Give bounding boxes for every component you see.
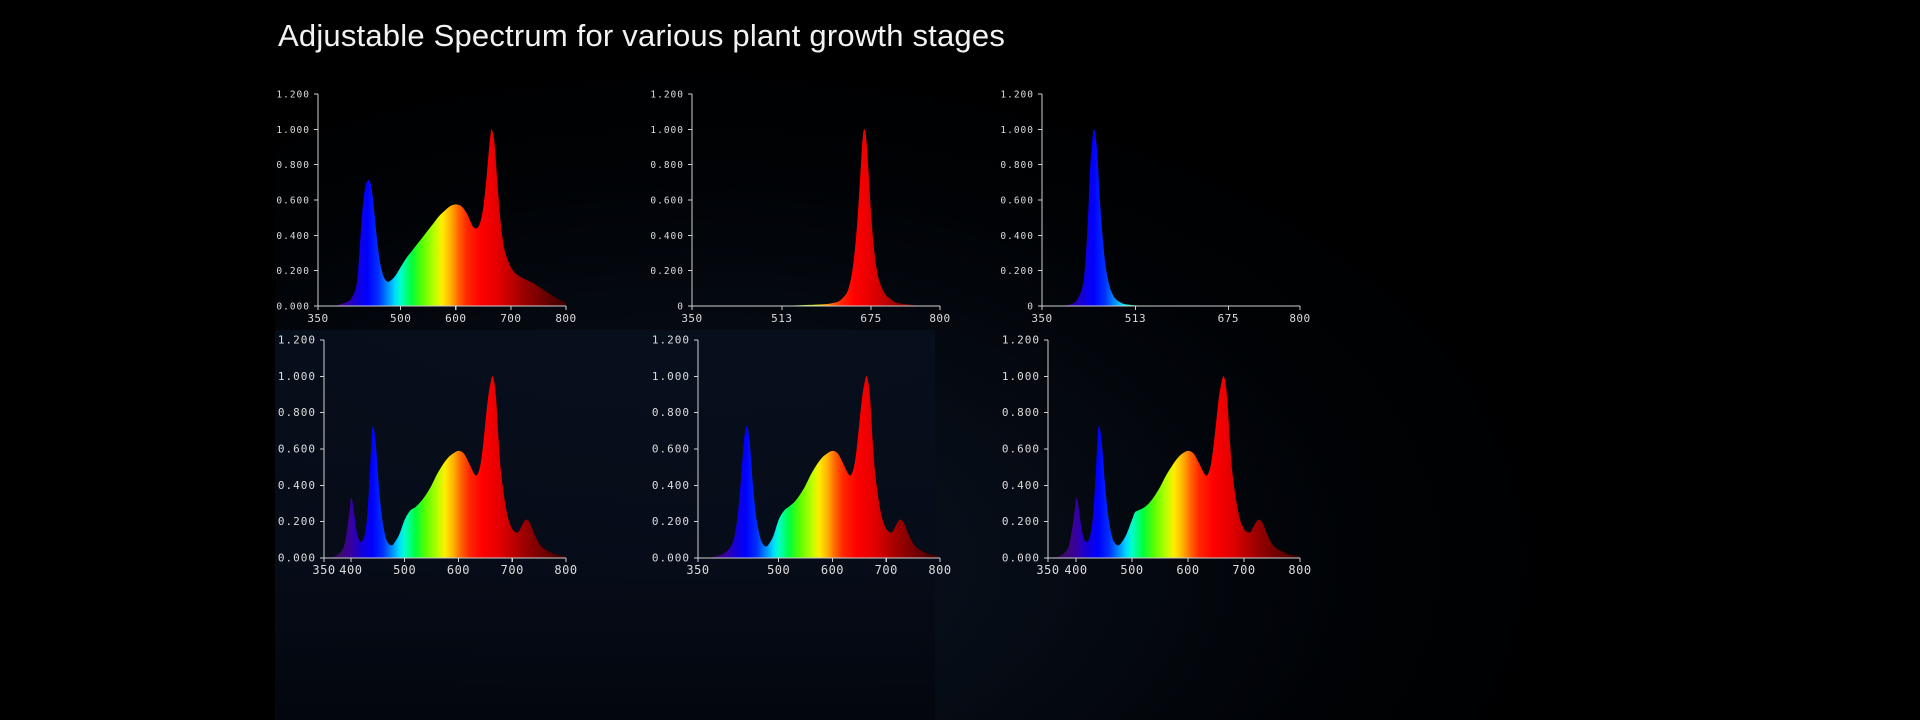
y-tick-label: 1.000 — [650, 125, 684, 136]
x-tick-label: 500 — [393, 563, 416, 577]
x-tick-label: 400 — [339, 563, 362, 577]
x-tick-label: 800 — [1288, 563, 1311, 577]
x-tick-label: 600 — [445, 312, 466, 325]
y-tick-label: 0.800 — [650, 160, 684, 171]
chart-vegetative: 0.0000.2000.4000.6000.8001.0001.20035040… — [276, 330, 576, 566]
slide-canvas: Adjustable Spectrum for various plant gr… — [0, 0, 1920, 720]
y-tick-label: 0.000 — [1002, 552, 1040, 565]
x-tick-label: 400 — [1064, 563, 1087, 577]
y-tick-label: 0.600 — [1002, 443, 1040, 456]
y-tick-label: 0.000 — [278, 552, 316, 565]
y-tick-label: 0.000 — [276, 302, 310, 313]
y-tick-label: 0.600 — [1000, 196, 1034, 207]
x-tick-label: 350 — [681, 312, 702, 325]
x-tick-label: 800 — [554, 563, 577, 577]
y-tick-label: 0.600 — [278, 443, 316, 456]
spectrum-area — [1048, 376, 1300, 558]
y-tick-label: 0.400 — [650, 231, 684, 242]
y-tick-label: 1.000 — [276, 125, 310, 136]
x-tick-label: 500 — [767, 563, 790, 577]
y-tick-label: 0.200 — [650, 266, 684, 277]
x-tick-label: 600 — [1176, 563, 1199, 577]
x-tick-label: 350 — [1031, 312, 1052, 325]
x-tick-label: 675 — [1218, 312, 1239, 325]
y-tick-label: 1.000 — [1000, 125, 1034, 136]
y-tick-label: 0.400 — [278, 479, 316, 492]
y-tick-label: 0.400 — [652, 479, 690, 492]
x-tick-label: 513 — [1125, 312, 1146, 325]
x-tick-label: 800 — [929, 312, 950, 325]
y-tick-label: 0.600 — [276, 196, 310, 207]
x-tick-label: 350 — [312, 563, 335, 577]
spectrum-area — [692, 129, 940, 306]
y-tick-label: 1.200 — [650, 90, 684, 101]
x-tick-label: 800 — [555, 312, 576, 325]
y-tick-label: 0.200 — [1002, 515, 1040, 528]
y-tick-label: 0.400 — [1000, 231, 1034, 242]
x-tick-label: 350 — [686, 563, 709, 577]
x-tick-label: 700 — [501, 563, 524, 577]
x-tick-label: 600 — [447, 563, 470, 577]
y-tick-label: 0.600 — [650, 196, 684, 207]
y-tick-label: 0 — [1027, 302, 1034, 313]
y-tick-label: 0.200 — [276, 266, 310, 277]
spectrum-area — [318, 129, 566, 306]
x-tick-label: 800 — [1289, 312, 1310, 325]
spectrum-area — [698, 376, 940, 558]
y-tick-label: 1.200 — [276, 90, 310, 101]
chart-deep-blue: 00.2000.4000.6000.8001.0001.200350513675… — [1000, 84, 1310, 314]
x-tick-label: 700 — [1232, 563, 1255, 577]
axes — [692, 94, 940, 306]
x-tick-label: 500 — [390, 312, 411, 325]
spectrum-area — [1042, 129, 1300, 306]
y-tick-label: 0.800 — [1002, 406, 1040, 419]
y-tick-label: 0.400 — [276, 231, 310, 242]
axes — [1042, 94, 1300, 306]
x-tick-label: 513 — [771, 312, 792, 325]
y-tick-label: 1.200 — [652, 334, 690, 347]
page-title: Adjustable Spectrum for various plant gr… — [278, 18, 1005, 54]
y-tick-label: 0.800 — [1000, 160, 1034, 171]
y-tick-label: 0 — [677, 302, 684, 313]
x-tick-label: 350 — [1036, 563, 1059, 577]
x-tick-label: 500 — [1120, 563, 1143, 577]
spectrum-area — [324, 376, 566, 558]
y-tick-label: 1.200 — [1000, 90, 1034, 101]
x-tick-label: 700 — [500, 312, 521, 325]
y-tick-label: 0.000 — [652, 552, 690, 565]
x-tick-label: 600 — [821, 563, 844, 577]
y-tick-label: 0.200 — [1000, 266, 1034, 277]
y-tick-label: 1.000 — [652, 370, 690, 383]
chart-flowering: 0.0000.2000.4000.6000.8001.0001.20035050… — [650, 330, 950, 566]
y-tick-label: 1.200 — [278, 334, 316, 347]
x-tick-label: 700 — [875, 563, 898, 577]
y-tick-label: 1.000 — [1002, 370, 1040, 383]
chart-full-cycle: 0.0000.2000.4000.6000.8001.0001.20035040… — [1000, 330, 1310, 566]
y-tick-label: 0.800 — [276, 160, 310, 171]
x-tick-label: 675 — [860, 312, 881, 325]
y-tick-label: 1.000 — [278, 370, 316, 383]
y-tick-label: 1.200 — [1002, 334, 1040, 347]
x-tick-label: 350 — [307, 312, 328, 325]
x-tick-label: 800 — [928, 563, 951, 577]
y-tick-label: 0.400 — [1002, 479, 1040, 492]
y-tick-label: 0.600 — [652, 443, 690, 456]
chart-full-spectrum: 0.0000.2000.4000.6000.8001.0001.20035050… — [276, 84, 576, 314]
chart-deep-red: 00.2000.4000.6000.8001.0001.200350513675… — [650, 84, 950, 314]
y-tick-label: 0.800 — [652, 406, 690, 419]
y-tick-label: 0.800 — [278, 406, 316, 419]
y-tick-label: 0.200 — [278, 515, 316, 528]
y-tick-label: 0.200 — [652, 515, 690, 528]
